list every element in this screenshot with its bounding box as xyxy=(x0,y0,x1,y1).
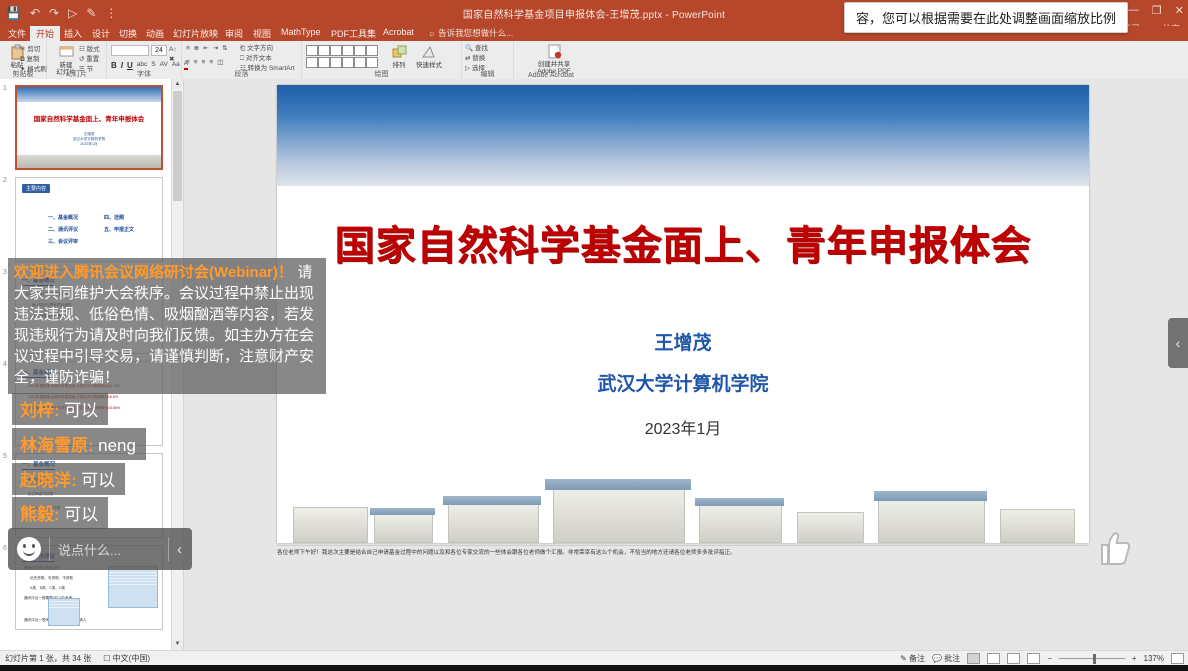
text-direction-command[interactable]: ⎗ 文字方向 xyxy=(240,45,295,53)
fit-to-window-icon[interactable] xyxy=(1171,653,1184,664)
thumb6-bullet-3: A类、B类、C类、D类 xyxy=(30,586,65,591)
scroll-down-button[interactable]: ▼ xyxy=(172,639,183,650)
line-spacing-button[interactable]: ⇅ xyxy=(222,45,227,53)
webinar-notice: 欢迎进入腾讯会议网络研讨会(Webinar)！ 请大家共同维护大会秩序。会议过程… xyxy=(8,258,326,394)
notes-divider[interactable] xyxy=(277,545,1089,546)
slide-sorter-view-button[interactable] xyxy=(987,653,1000,664)
shape-corner-icon[interactable] xyxy=(330,57,342,68)
tab-mathtype[interactable]: MathType xyxy=(275,26,327,41)
chat-sender-2: 林海雪原: xyxy=(20,436,94,455)
group-adobe-acrobat: 创建并共享Adobe PDF Adobe Acrobat xyxy=(514,41,588,79)
normal-view-button[interactable] xyxy=(967,653,980,664)
chat-message-3: 赵晓洋: 可以 xyxy=(12,463,125,495)
group-label-clipboard: 剪贴板 xyxy=(0,69,46,79)
chat-message-1: 刘梓: 可以 xyxy=(12,393,108,425)
shape-rect-icon[interactable] xyxy=(318,45,330,56)
shape-elbow-icon[interactable] xyxy=(342,57,354,68)
shape-gallery[interactable] xyxy=(306,45,377,68)
font-name-input[interactable] xyxy=(111,45,149,56)
zoom-level[interactable]: 137% xyxy=(1144,654,1164,663)
restore-button[interactable]: ❐ xyxy=(1152,4,1162,17)
thumb1-sky xyxy=(17,87,161,102)
thumb-number-2: 2 xyxy=(3,177,7,184)
thumbnail-scroll-thumb[interactable] xyxy=(173,91,182,201)
webinar-notice-body: 请大家共同维护大会秩序。会议过程中禁止出现违法违规、低俗色情、吸烟酗酒等内容，若… xyxy=(14,264,314,386)
slide-date[interactable]: 2023年1月 xyxy=(277,415,1089,439)
chat-sender-1: 刘梓: xyxy=(20,401,60,420)
group-paragraph: ≡ ≣ ⇤ ⇥ ⇅ ≡ ≡ ≡ ≡ ◫ ⎗ 文字方向 ⎕ 对齐文本 ☷ 转换为 … xyxy=(182,41,302,79)
slide-thumbnail-2[interactable]: 主要内容 一、基金概况 二、通讯评议 三、会议评审 四、选题 五、申报正文 xyxy=(15,177,163,262)
align-left-button[interactable]: ≡ xyxy=(186,59,190,67)
tab-transitions[interactable]: 切换 xyxy=(113,26,143,41)
numbering-button[interactable]: ≣ xyxy=(194,45,199,53)
shape-oval-icon[interactable] xyxy=(366,45,378,56)
quick-styles-button[interactable]: 快速样式 xyxy=(412,44,446,69)
shape-pentagon-icon[interactable] xyxy=(366,57,378,68)
find-command[interactable]: 🔍 查找 xyxy=(465,45,488,53)
quick-styles-label: 快速样式 xyxy=(412,62,446,69)
chat-text-1: 可以 xyxy=(64,401,98,420)
zoom-in-button[interactable]: + xyxy=(1132,654,1137,663)
group-label-acrobat: Adobe Acrobat xyxy=(514,72,588,79)
group-clipboard: 粘贴 ✂ 剪切 ⧉ 复制 ✦ 格式刷 剪贴板 xyxy=(0,41,47,79)
slide-thumbnail-1[interactable]: 国家自然科学基金面上、青年申报体会 王增茂 武汉大学计算机学院 2023年1月 xyxy=(15,85,163,170)
group-label-slides: 幻灯片 xyxy=(47,69,106,79)
thumb2-item-1: 一、基金概况 xyxy=(48,214,78,221)
zoom-slider[interactable] xyxy=(1059,654,1125,664)
tab-animations[interactable]: 动画 xyxy=(140,26,170,41)
language-indicator[interactable]: ☐ 中文(中国) xyxy=(103,653,150,664)
collapse-chat-icon[interactable]: ‹ xyxy=(177,541,182,558)
tab-slideshow[interactable]: 幻灯片放映 xyxy=(167,26,224,41)
increase-indent-button[interactable]: ⇥ xyxy=(213,45,218,53)
slide-counter[interactable]: 幻灯片第 1 张，共 34 张 xyxy=(5,653,91,664)
scroll-up-button[interactable]: ▲ xyxy=(172,79,183,90)
slide-organization[interactable]: 武汉大学计算机学院 xyxy=(277,369,1089,396)
bullets-button[interactable]: ≡ xyxy=(186,45,190,53)
windows-taskbar[interactable] xyxy=(0,665,1188,671)
align-center-button[interactable]: ≡ xyxy=(194,59,198,67)
shape-line-icon[interactable] xyxy=(330,45,342,56)
align-text-command[interactable]: ⎕ 对齐文本 xyxy=(240,55,295,63)
chat-input-bar[interactable]: 说点什么... ‹ xyxy=(8,528,192,570)
chat-input[interactable]: 说点什么... xyxy=(58,540,160,559)
chat-text-4: 可以 xyxy=(64,505,98,524)
comments-toggle[interactable]: 💬 批注 xyxy=(932,653,960,664)
thumb-number-1: 1 xyxy=(3,85,7,92)
reading-view-button[interactable] xyxy=(1007,653,1020,664)
group-label-editing: 编辑 xyxy=(462,69,513,79)
status-bar: 幻灯片第 1 张，共 34 张 ☐ 中文(中国) ✎ 备注 💬 批注 − + 1… xyxy=(0,650,1188,666)
change-case-button[interactable]: Aa xyxy=(172,61,180,69)
tab-design[interactable]: 设计 xyxy=(86,26,116,41)
thumb2-item-4: 四、选题 xyxy=(104,214,124,221)
tab-acrobat[interactable]: Acrobat xyxy=(377,26,420,41)
tab-review[interactable]: 审阅 xyxy=(219,26,249,41)
slide-presenter[interactable]: 王增茂 xyxy=(277,328,1089,355)
text-shadow-button[interactable]: S xyxy=(151,61,155,69)
thumb1-campus xyxy=(17,155,161,168)
thumb2-item-3: 三、会议评审 xyxy=(48,238,78,245)
decrease-indent-button[interactable]: ⇤ xyxy=(203,45,208,53)
reset-command[interactable]: ↺ 重置 xyxy=(79,56,100,64)
layout-command[interactable]: ☷ 版式 xyxy=(79,46,100,54)
increase-font-size-button[interactable]: A↑ xyxy=(169,46,177,54)
campus-photo xyxy=(277,470,1089,543)
minimize-button[interactable]: — xyxy=(1128,4,1139,17)
align-right-button[interactable]: ≡ xyxy=(202,59,206,67)
shape-arrow-icon[interactable] xyxy=(342,45,354,56)
group-font: 24 A↑ ✖ B I U abc S AV Aa A 字体 xyxy=(107,41,182,79)
thumb2-tag: 主要内容 xyxy=(22,184,50,193)
tell-me-box[interactable]: ☼ 告诉我您想做什么... xyxy=(428,27,513,39)
slideshow-view-button[interactable] xyxy=(1027,653,1040,664)
divider xyxy=(49,537,50,561)
thumb6-bullet-2: 优先资助、可资助、不资助 xyxy=(30,576,73,581)
replace-command[interactable]: ⇄ 替换 xyxy=(465,55,488,63)
tab-pdf-tools[interactable]: PDF工具集 xyxy=(325,26,382,41)
thumb-number-6: 6 xyxy=(3,545,7,552)
shape-triangle-icon[interactable] xyxy=(318,57,330,68)
thumb6-table xyxy=(108,566,158,608)
group-editing: 🔍 查找 ⇄ 替换 ▷ 选择 编辑 xyxy=(462,41,514,79)
tab-view[interactable]: 视图 xyxy=(247,26,277,41)
thumb2-item-5: 五、申报正文 xyxy=(104,226,134,233)
slide-sky-banner xyxy=(277,85,1089,186)
strikethrough-button[interactable]: abc xyxy=(137,61,147,69)
copy-command[interactable]: ⧉ 复制 xyxy=(20,56,47,64)
slide-title[interactable]: 国家自然科学基金面上、青年申报体会 xyxy=(277,213,1089,271)
zoom-tooltip: 容，您可以根据需要在此处调整画面缩放比例 xyxy=(844,2,1128,33)
quick-styles-icon xyxy=(421,44,438,61)
thumb-number-5: 5 xyxy=(3,453,7,460)
shape-block-arrow-icon[interactable] xyxy=(354,57,366,68)
thumb-number-3: 3 xyxy=(3,269,7,276)
chat-sender-4: 熊毅: xyxy=(20,505,60,524)
character-spacing-button[interactable]: AV xyxy=(160,61,168,69)
thumb1-sub: 王增茂 武汉大学计算机学院 2023年1月 xyxy=(17,132,161,147)
group-drawing: 排列 快速样式 绘图 xyxy=(302,41,462,79)
group-label-paragraph: 段落 xyxy=(182,69,301,79)
tab-file[interactable]: 文件 xyxy=(2,26,32,41)
thumbs-up-icon[interactable] xyxy=(1090,528,1132,568)
thumb1-title: 国家自然科学基金面上、青年申报体会 xyxy=(17,113,161,123)
active-slide[interactable]: 国家自然科学基金面上、青年申报体会 王增茂 武汉大学计算机学院 2023年1月 xyxy=(277,85,1089,543)
ribbon-body: 粘贴 ✂ 剪切 ⧉ 复制 ✦ 格式刷 剪贴板 新建幻灯片 ☷ 版式 ↺ 重置 ☰… xyxy=(0,41,1188,80)
group-label-font: 字体 xyxy=(107,69,181,79)
chat-sender-3: 赵晓洋: xyxy=(20,471,77,490)
thumb-number-4: 4 xyxy=(3,361,7,368)
columns-button[interactable]: ◫ xyxy=(217,59,223,67)
shape-rounded-icon[interactable] xyxy=(306,57,318,68)
zoom-out-button[interactable]: − xyxy=(1047,654,1052,663)
font-size-input[interactable]: 24 xyxy=(151,45,167,56)
tab-home[interactable]: 开始 xyxy=(30,26,60,41)
arrange-icon xyxy=(391,44,408,61)
tab-insert[interactable]: 插入 xyxy=(58,26,88,41)
chat-text-3: 可以 xyxy=(81,471,115,490)
emoji-icon[interactable] xyxy=(17,537,41,561)
justify-button[interactable]: ≡ xyxy=(209,59,213,67)
new-slide-icon xyxy=(58,44,75,61)
chat-text-2: neng xyxy=(98,436,136,455)
side-panel-collapse-icon[interactable]: ‹ xyxy=(1168,318,1188,368)
shape-square-icon[interactable] xyxy=(354,45,366,56)
shape-textbox-icon[interactable] xyxy=(306,45,318,56)
thumb2-item-2: 二、通讯评议 xyxy=(48,226,78,233)
slide-editing-stage[interactable]: 国家自然科学基金面上、青年申报体会 王增茂 武汉大学计算机学院 2023年1月 xyxy=(184,79,1188,650)
webinar-notice-highlight: 欢迎进入腾讯会议网络研讨会(Webinar)！ xyxy=(14,264,293,281)
window-controls[interactable]: — ❐ ✕ xyxy=(1128,4,1184,17)
chat-message-2: 林海雪原: neng xyxy=(12,428,146,460)
powerpoint-window: 💾 ↶ ↷ ▷ ✎ ⋮ 国家自然科学基金项目申报体会-王增茂.pptx - Po… xyxy=(0,0,1188,671)
thumb6-table-2 xyxy=(48,598,80,626)
notes-toggle[interactable]: ✎ 备注 xyxy=(900,653,925,664)
create-share-pdf-button[interactable]: 创建并共享Adobe PDF xyxy=(534,43,574,75)
arrange-button[interactable]: 排列 xyxy=(384,44,414,69)
adobe-pdf-icon xyxy=(546,43,563,60)
group-slides: 新建幻灯片 ☷ 版式 ↺ 重置 ☰ 节 幻灯片 xyxy=(47,41,107,79)
arrange-label: 排列 xyxy=(384,62,414,69)
speaker-notes[interactable]: 各位老师下午好！我这次主要是结合自己申请基金过程中的问题以及和各位专家交流的一些… xyxy=(277,549,1089,571)
cut-command[interactable]: ✂ 剪切 xyxy=(20,46,47,54)
close-button[interactable]: ✕ xyxy=(1175,4,1184,17)
group-label-drawing: 绘图 xyxy=(302,69,461,79)
chat-message-4: 熊毅: 可以 xyxy=(12,497,108,529)
divider xyxy=(168,537,169,561)
